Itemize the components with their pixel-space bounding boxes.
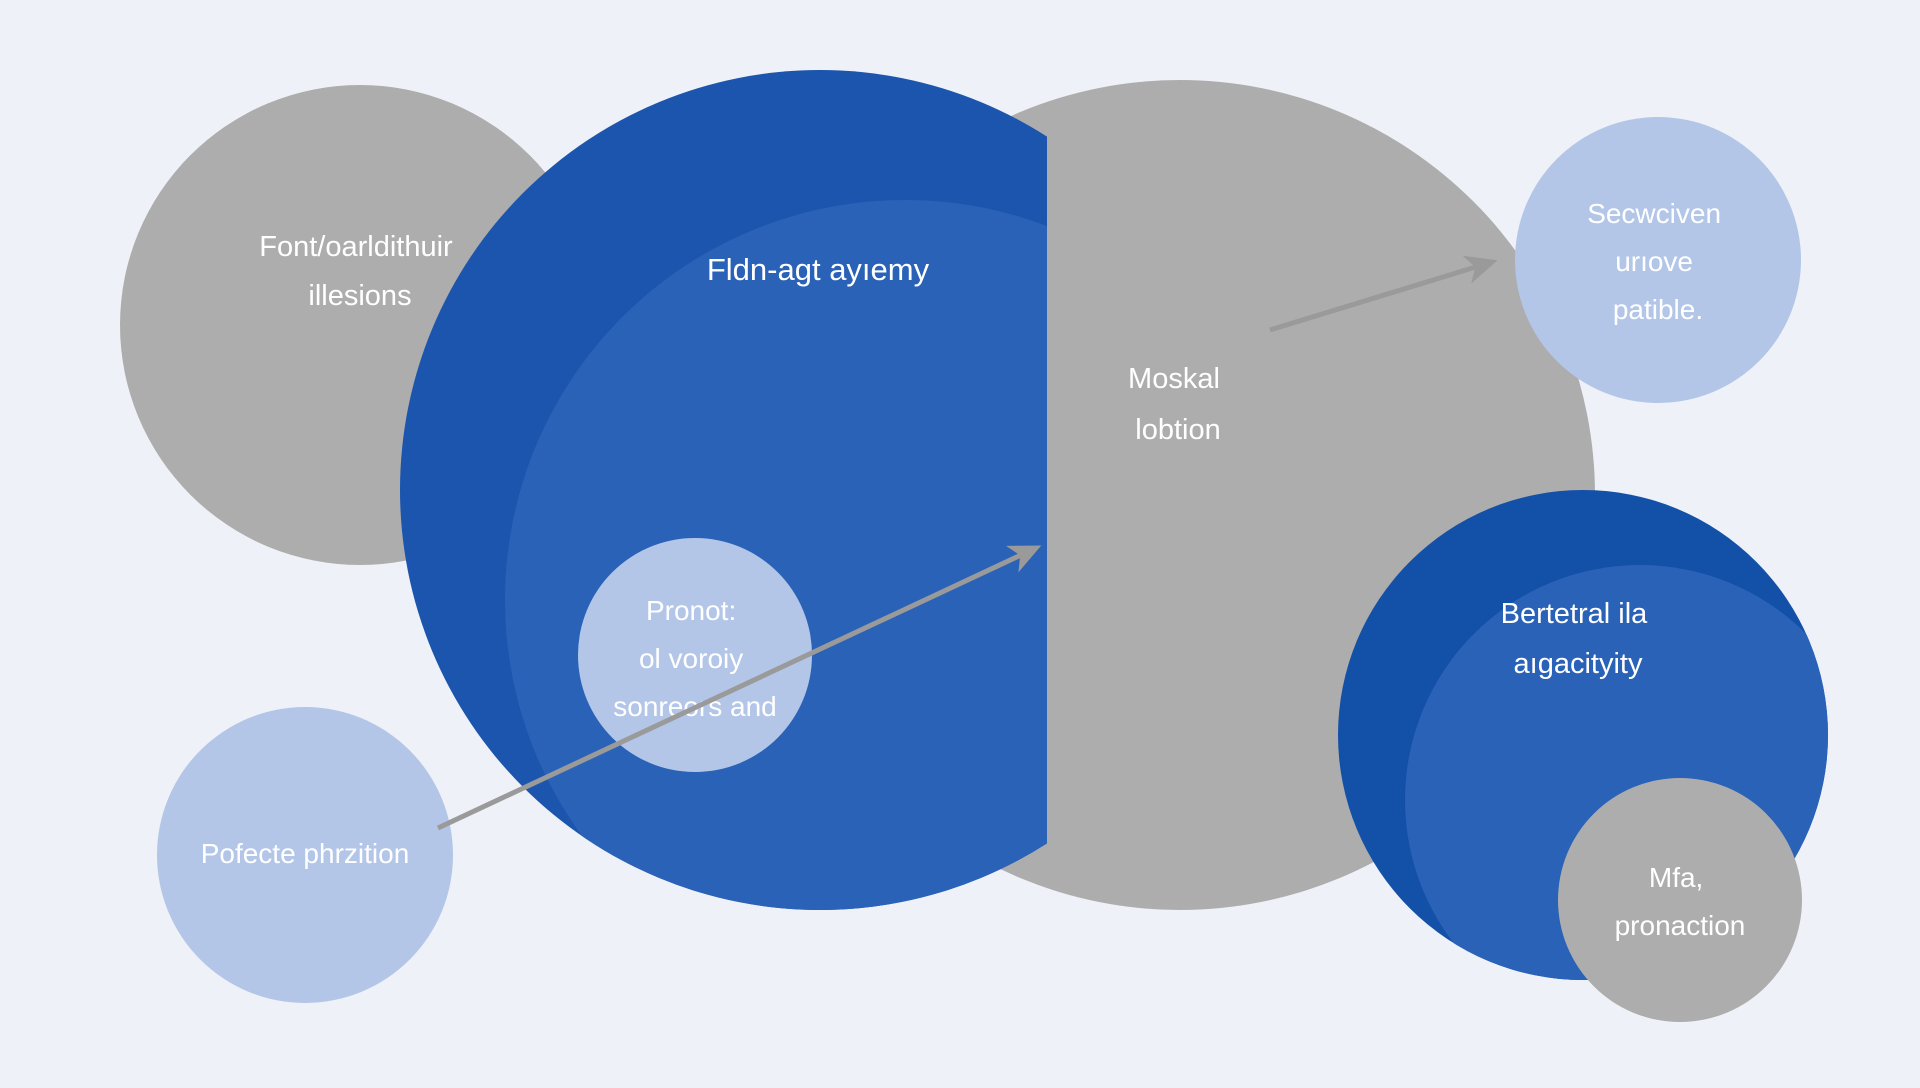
light-blue-bottom-left-label: Pofecte phrzition <box>201 838 410 869</box>
node-light-blue-top-right[interactable]: Secwciven urıove patible. <box>1515 117 1801 403</box>
gray-bottom-right-circle[interactable] <box>1558 778 1802 1022</box>
node-light-blue-bottom-left[interactable]: Pofecte phrzition <box>157 707 453 1003</box>
circle-diagram-canvas: Font/oarldithuir illesions Moskal lobtio… <box>0 0 1920 1088</box>
node-gray-bottom-right[interactable]: Mfa, pronaction <box>1558 778 1802 1022</box>
blue-main-label: Fldn-agt ayıemy <box>707 252 930 287</box>
node-light-blue-inner[interactable]: Pronot: ol voroiy sonreors and <box>578 538 812 772</box>
diagram-stage: Font/oarldithuir illesions Moskal lobtio… <box>0 0 1920 1088</box>
